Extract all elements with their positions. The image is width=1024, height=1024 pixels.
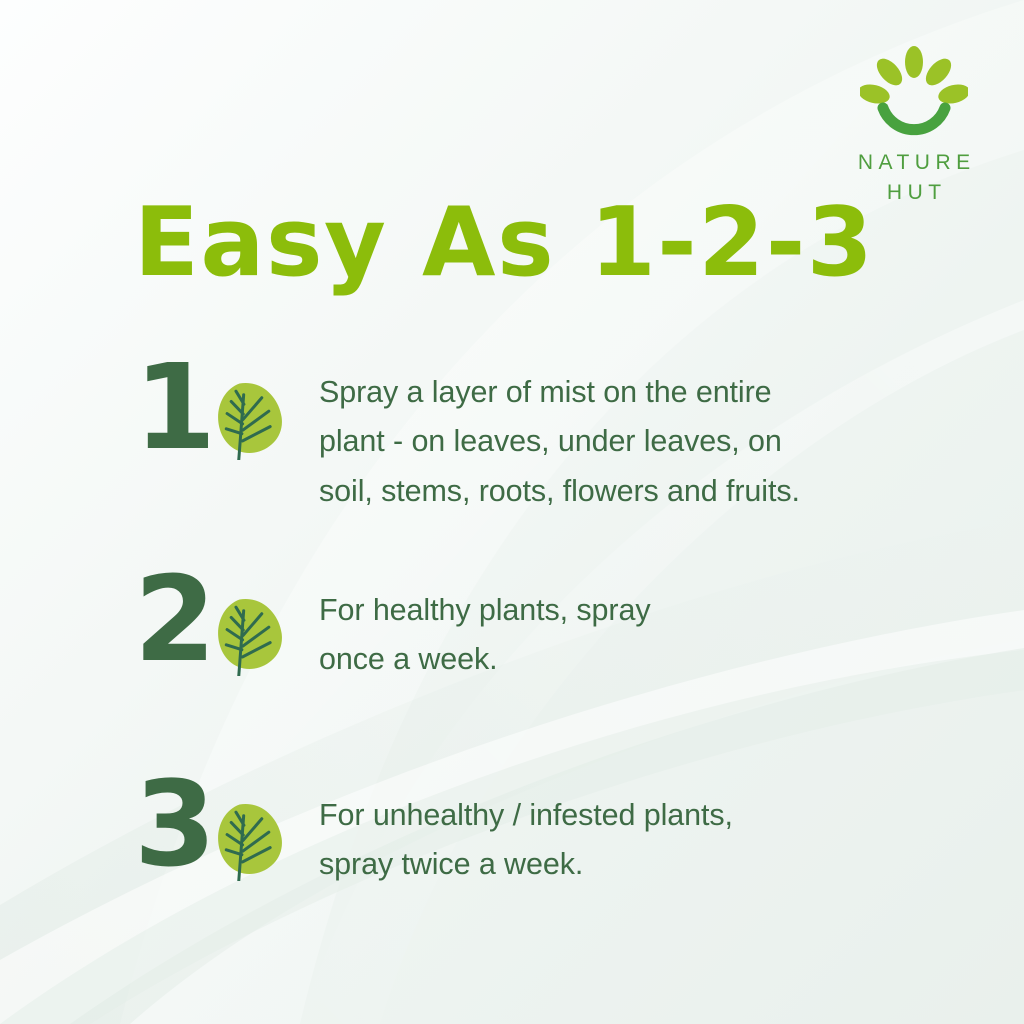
- list-item: 3: [0, 769, 1024, 929]
- poster-canvas: NATURE HUT Easy As 1-2-3 1: [0, 0, 1024, 1024]
- step-number: 3: [134, 769, 206, 880]
- step-description-line: soil, stems, roots, flowers and fruits.: [319, 467, 1024, 516]
- leaf-icon: [208, 797, 292, 886]
- leaf-icon: [208, 592, 292, 681]
- brand-name-line-1: NATURE: [818, 148, 1010, 178]
- step-number: 1: [134, 352, 206, 463]
- step-description-line: plant - on leaves, under leaves, on: [319, 417, 1024, 466]
- page-title: Easy As 1-2-3: [134, 196, 874, 291]
- step-description: Spray a layer of mist on the entire plan…: [319, 352, 1024, 516]
- five-leaf-smile-icon: [860, 46, 968, 138]
- step-number: 2: [134, 564, 206, 675]
- step-description-line: Spray a layer of mist on the entire: [319, 368, 1024, 417]
- step-description-line: once a week.: [319, 635, 1024, 684]
- list-item: 2: [0, 564, 1024, 769]
- step-description-line: For unhealthy / infested plants,: [319, 791, 1024, 840]
- step-description: For healthy plants, spray once a week.: [319, 564, 1024, 685]
- steps-list: 1: [0, 352, 1024, 929]
- step-description: For unhealthy / infested plants, spray t…: [319, 769, 1024, 890]
- leaf-icon: [208, 376, 292, 465]
- brand-logo: NATURE HUT: [818, 46, 1010, 208]
- step-description-line: For healthy plants, spray: [319, 586, 1024, 635]
- step-description-line: spray twice a week.: [319, 840, 1024, 889]
- list-item: 1: [0, 352, 1024, 564]
